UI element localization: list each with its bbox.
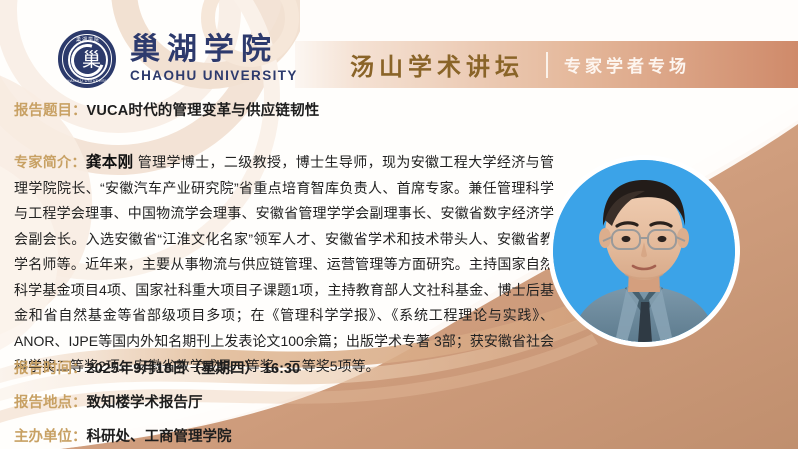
speaker-bio-paragraph: 专家简介：龚本刚 管理学博士，二级教授，博士生导师，现为安徽工程大学经济与管理学…: [14, 150, 554, 380]
speaker-bio-text: 管理学博士，二级教授，博士生导师，现为安徽工程大学经济与管理学院院长、“安徽汽车…: [14, 154, 554, 374]
report-time-value: 2025年9月18日（星期四） 16:30: [87, 357, 301, 378]
report-title-label: 报告题目：: [14, 99, 87, 120]
lecture-series-banner: 汤山学术讲坛 专家学者专场: [295, 41, 798, 88]
report-title-value: VUCA时代的管理变革与供应链韧性: [87, 99, 320, 120]
chaohu-university-seal-icon: 巢 巢湖学院 CHAOHU UNIVERSITY: [58, 30, 116, 88]
seal-bottom-text: CHAOHU UNIVERSITY: [59, 78, 117, 83]
report-location-value: 致知楼学术报告厅: [87, 391, 203, 412]
speaker-bio-label: 专家简介：: [14, 154, 86, 170]
report-title-row: 报告题目： VUCA时代的管理变革与供应链韧性: [14, 99, 320, 120]
university-branding: 巢 巢湖学院 CHAOHU UNIVERSITY 巢湖学院 CHAOHU UNI…: [58, 30, 298, 88]
university-name-block: 巢湖学院 CHAOHU UNIVERSITY: [130, 30, 298, 83]
header-soft-wash: [300, 0, 798, 42]
speaker-portrait-photo: [553, 160, 735, 342]
banner-divider: [546, 52, 548, 78]
banner-subtitle: 专家学者专场: [564, 52, 690, 77]
speaker-name: 龚本刚: [86, 154, 134, 171]
report-time-label: 报告时间：: [14, 357, 87, 378]
seal-top-text: 巢湖学院: [59, 36, 117, 43]
report-location-row: 报告地点： 致知楼学术报告厅: [14, 391, 203, 412]
portrait-illustration: [553, 160, 735, 342]
report-time-row: 报告时间： 2025年9月18日（星期四） 16:30: [14, 357, 300, 378]
poster-canvas: 汤山学术讲坛 专家学者专场 巢 巢湖学院 CHAOHU UNIVERSITY 巢…: [0, 0, 798, 449]
speaker-bio-block: 专家简介：龚本刚 管理学博士，二级教授，博士生导师，现为安徽工程大学经济与管理学…: [14, 136, 554, 394]
report-location-label: 报告地点：: [14, 391, 87, 412]
university-name-en: CHAOHU UNIVERSITY: [130, 68, 298, 83]
report-organizer-row: 主办单位： 科研处、工商管理学院: [14, 425, 232, 446]
report-organizer-label: 主办单位：: [14, 425, 87, 446]
report-organizer-value: 科研处、工商管理学院: [87, 425, 232, 446]
banner-main-title: 汤山学术讲坛: [350, 47, 524, 82]
university-name-cn: 巢湖学院: [130, 33, 298, 66]
